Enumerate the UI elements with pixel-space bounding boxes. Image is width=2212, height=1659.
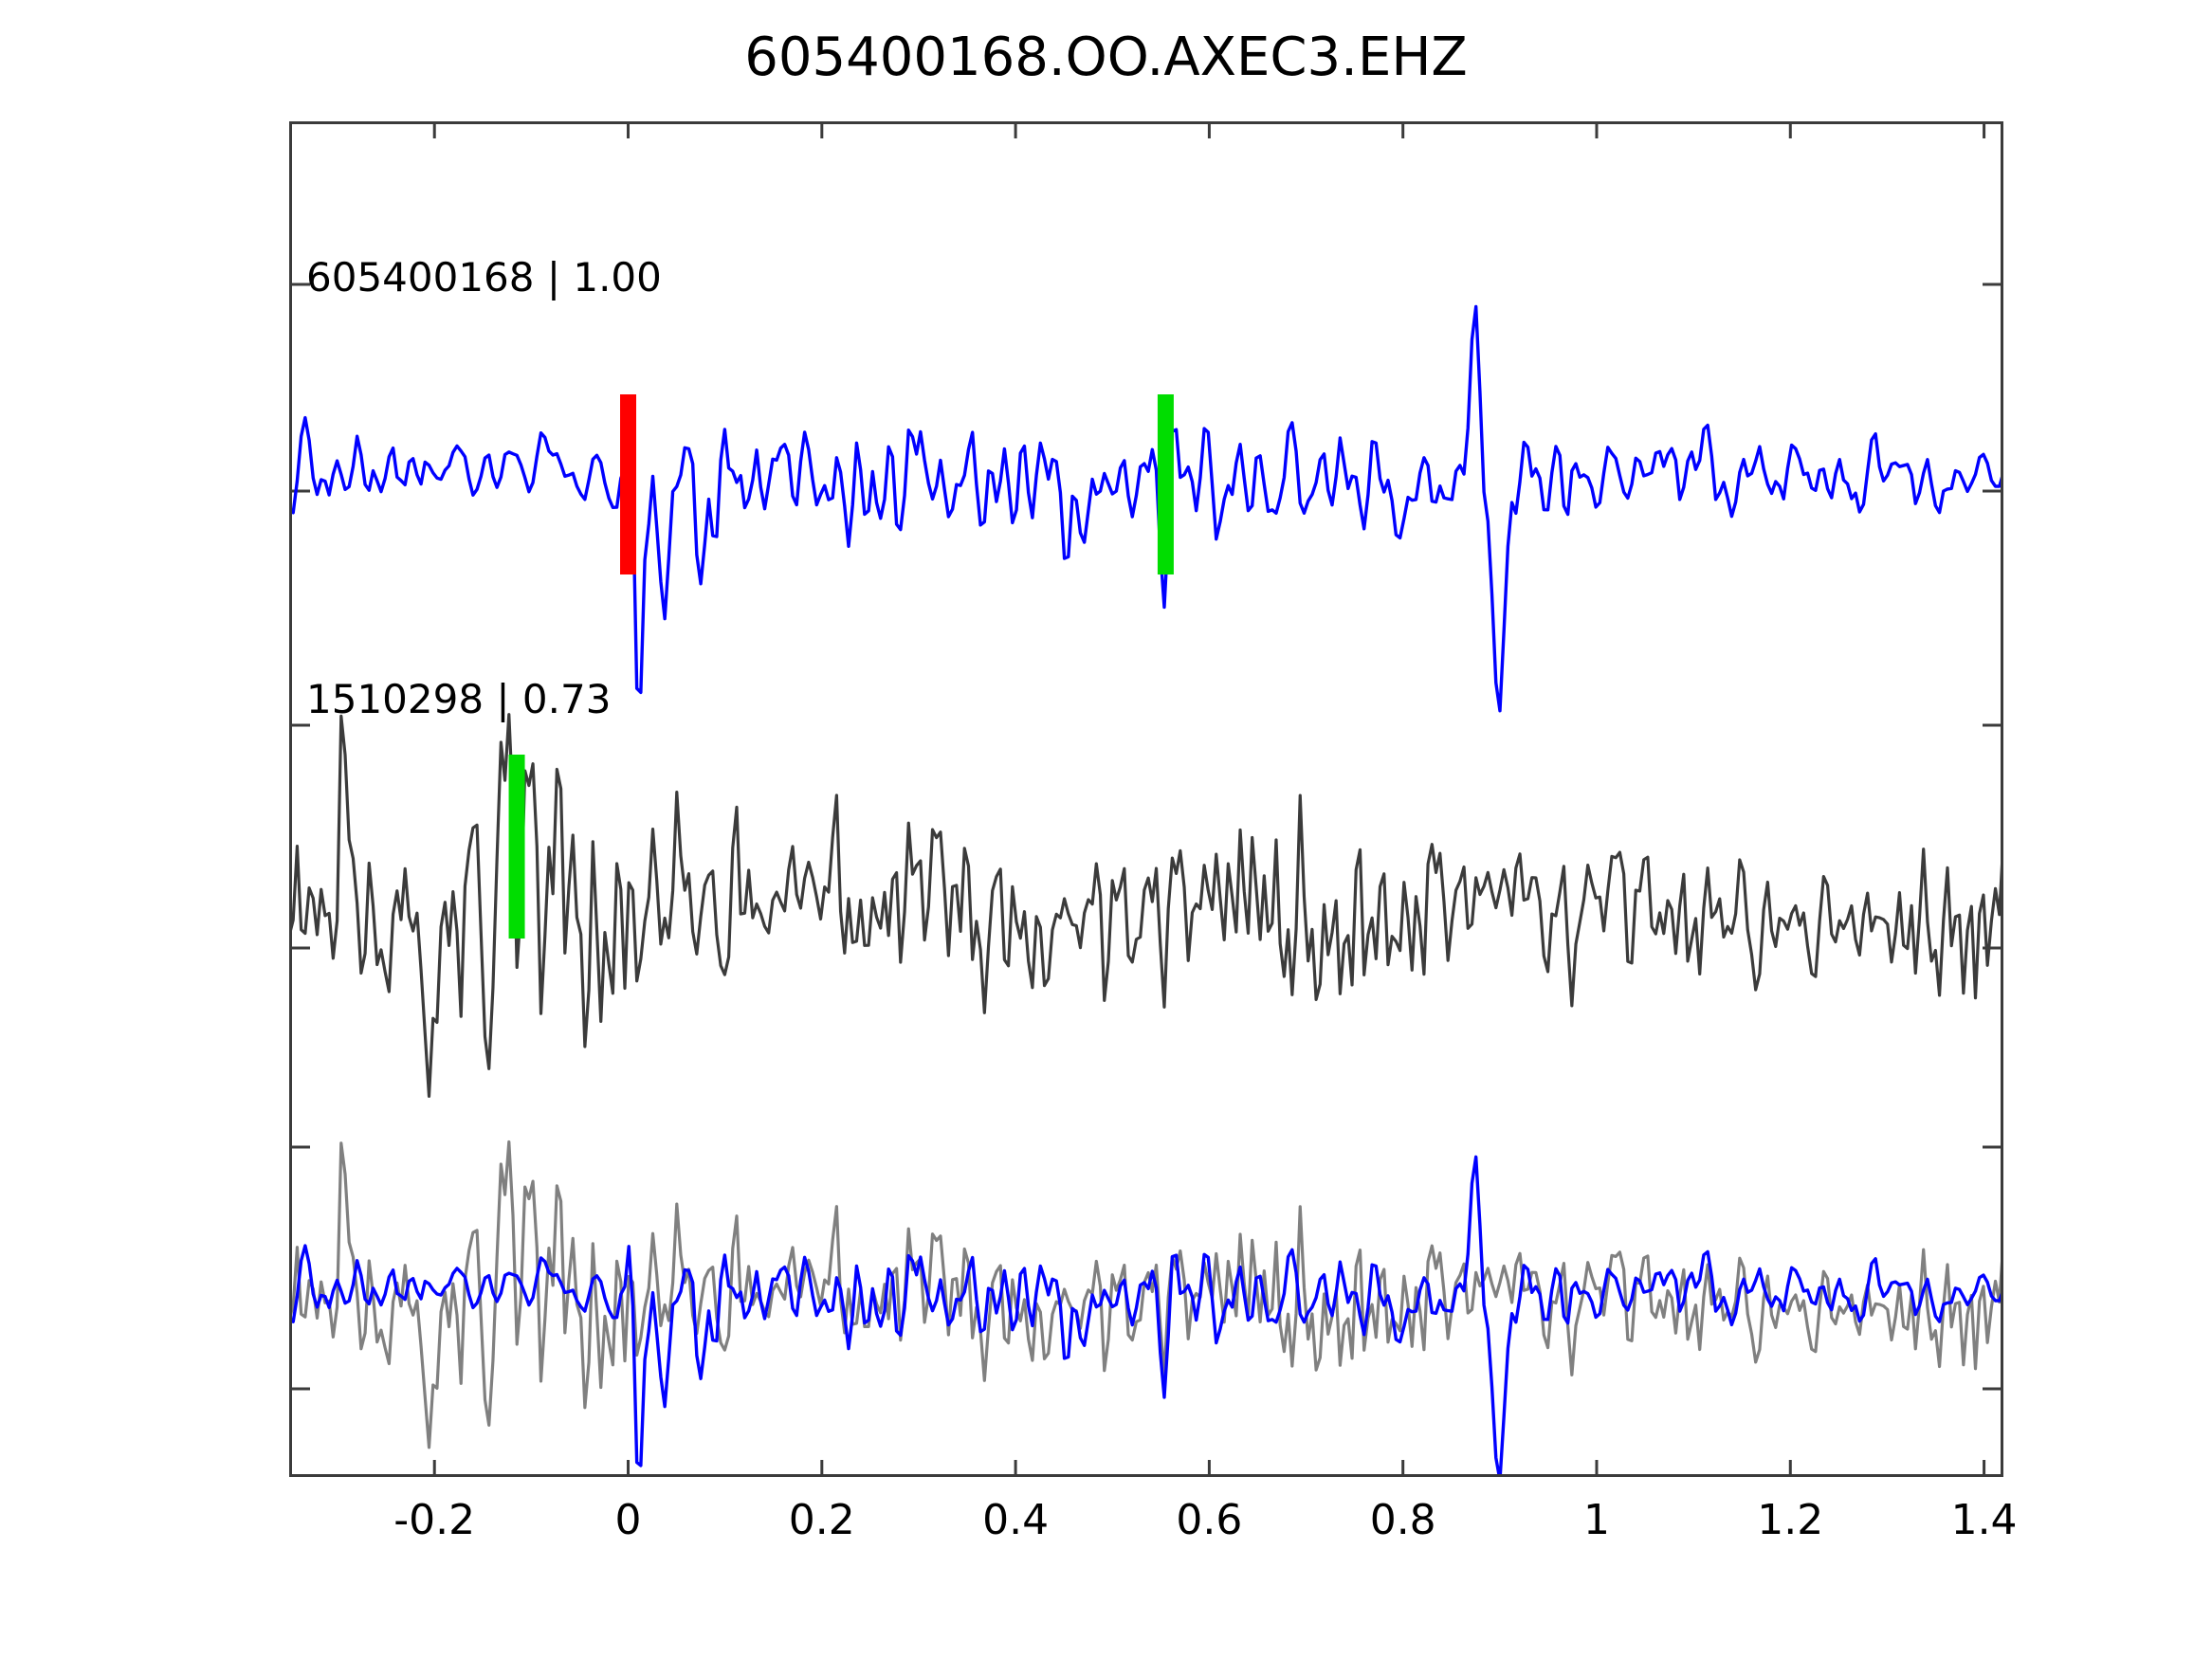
- x-tick-label: 0.2: [789, 1496, 855, 1544]
- seismogram-figure: 605400168.OO.AXEC3.EHZ 605400168 | 1.00 …: [0, 0, 2212, 1659]
- waveform-canvas: [289, 121, 2003, 1477]
- x-tick-label: 1: [1583, 1496, 1610, 1544]
- x-tick-label: 0.4: [982, 1496, 1049, 1544]
- x-axis-tick-labels: -0.200.20.40.60.811.21.4: [289, 1496, 2003, 1562]
- waveform-detection: [289, 715, 2003, 1097]
- waveform-template: [289, 306, 2003, 710]
- waveform-overlay-detection: [289, 1142, 2003, 1448]
- x-tick-label: 0.8: [1370, 1496, 1436, 1544]
- x-tick-label: 0.6: [1176, 1496, 1242, 1544]
- x-tick-label: -0.2: [393, 1496, 475, 1544]
- trace-label-detection: 1510298 | 0.73: [306, 676, 611, 722]
- trace-label-template: 605400168 | 1.00: [306, 254, 662, 301]
- x-tick-label: 1.4: [1951, 1496, 2018, 1544]
- page-title: 605400168.OO.AXEC3.EHZ: [0, 27, 2212, 88]
- x-tick-label: 1.2: [1757, 1496, 1823, 1544]
- x-tick-label: 0: [615, 1496, 642, 1544]
- plot-axes: 605400168 | 1.00 1510298 | 0.73: [289, 121, 2003, 1477]
